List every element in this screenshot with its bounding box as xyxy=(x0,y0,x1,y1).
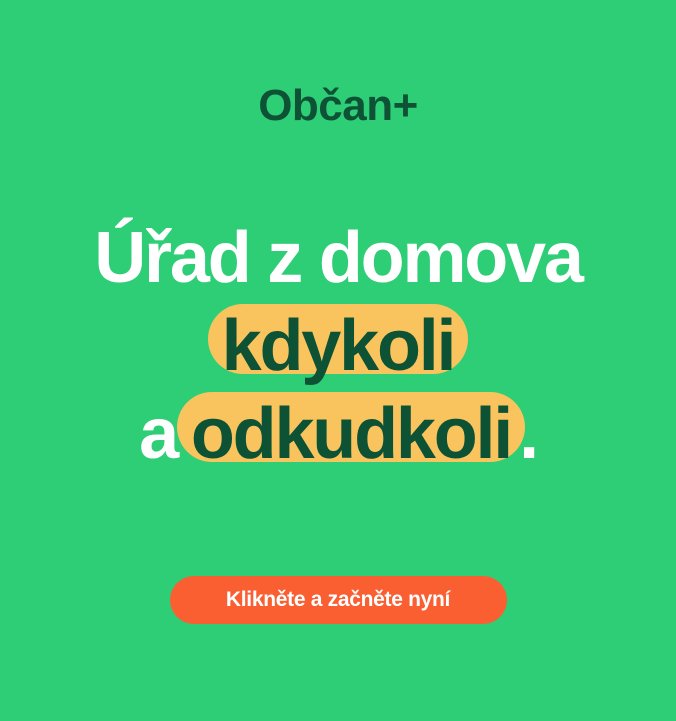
headline-highlight-odkudkoli: odkudkoli xyxy=(177,398,525,470)
brand-wordmark: Občan+ xyxy=(258,84,418,128)
headline-period: . xyxy=(519,394,537,474)
headline-highlight-kdykoli: kdykoli xyxy=(208,310,469,382)
promo-banner: Občan+ Úřad z domova kdykoli aodkudkoli.… xyxy=(0,0,676,721)
headline-line-1: Úřad z domova xyxy=(0,222,676,294)
headline-prefix-a: a xyxy=(139,394,177,474)
brand-logo: Občan+ xyxy=(0,84,676,128)
cta-container: Klikněte a začněte nyní xyxy=(0,576,676,624)
headline-block: Úřad z domova kdykoli aodkudkoli. xyxy=(0,222,676,474)
cta-button[interactable]: Klikněte a začněte nyní xyxy=(170,576,507,624)
headline-line-3: aodkudkoli. xyxy=(0,398,676,474)
headline-line-2: kdykoli xyxy=(0,310,676,386)
